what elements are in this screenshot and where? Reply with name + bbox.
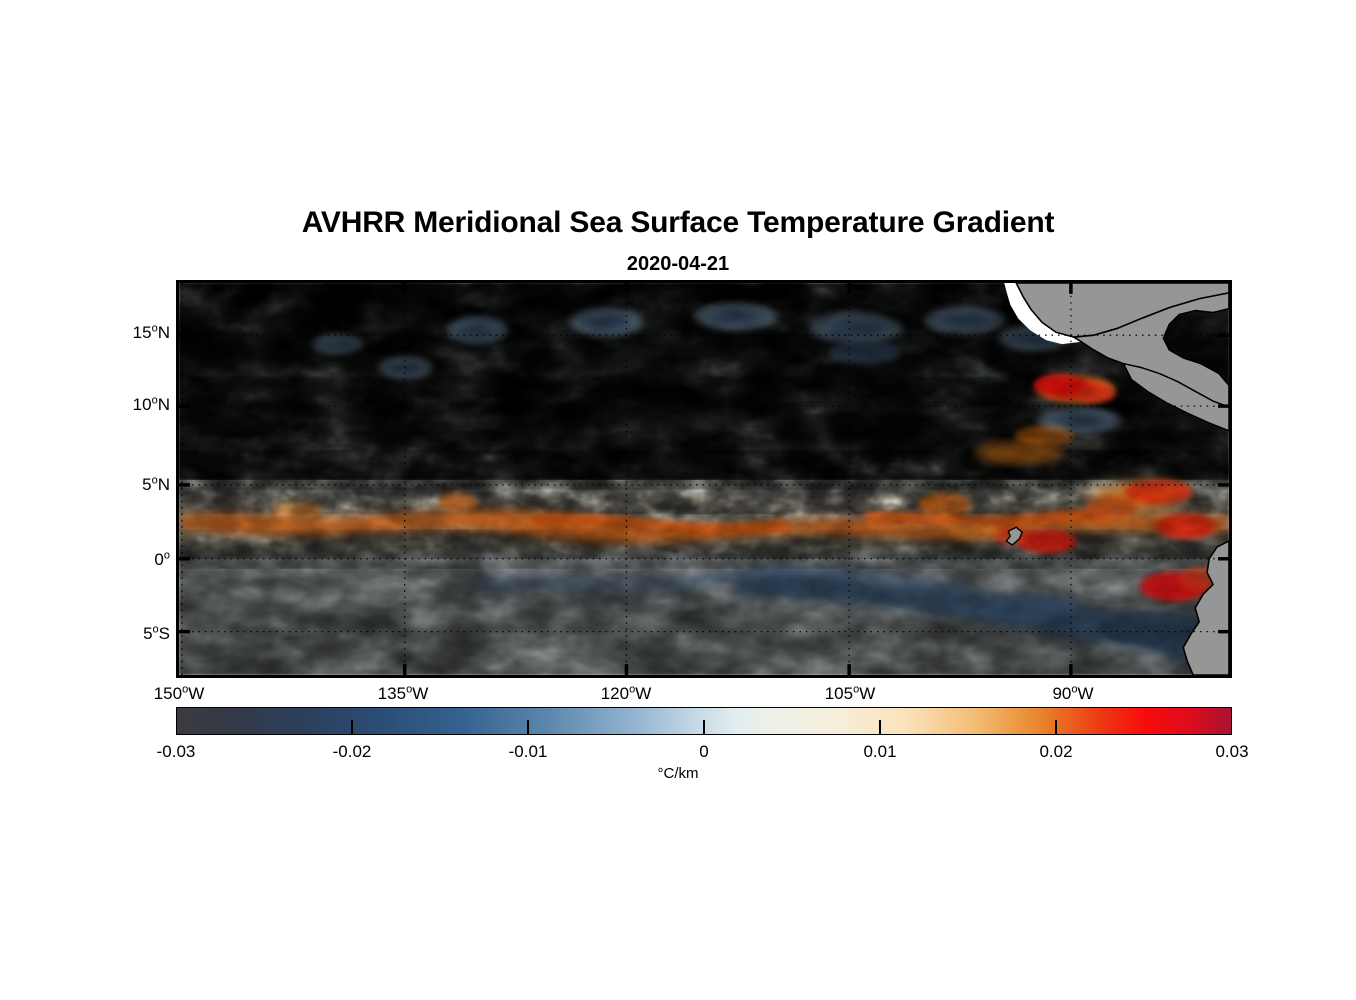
colorbar-tick-neg002 (351, 720, 353, 734)
map-axes[interactable] (176, 280, 1232, 678)
xtick-label-135w: 135oW (378, 684, 429, 704)
colorbar-label-pos003: 0.03 (1215, 742, 1248, 762)
page-title: AVHRR Meridional Sea Surface Temperature… (0, 206, 1356, 240)
xtick-label-90w: 90oW (1052, 684, 1093, 704)
colorbar-label-neg003: -0.03 (157, 742, 196, 762)
sst-gradient-heatmap (179, 283, 1229, 675)
ytick-label-15n: 15oN (133, 323, 170, 343)
ytick-label-5n: 5oN (142, 475, 170, 495)
xtick-label-120w: 120oW (601, 684, 652, 704)
colorbar-label-neg001: -0.01 (509, 742, 548, 762)
colorbar-label-pos001: 0.01 (863, 742, 896, 762)
colorbar-label-zero: 0 (699, 742, 708, 762)
colorbar[interactable] (176, 707, 1232, 735)
colorbar-tick-pos002 (1055, 720, 1057, 734)
xtick-label-150w: 150oW (154, 684, 205, 704)
colorbar-tick-neg001 (527, 720, 529, 734)
colorbar-tick-pos001 (879, 720, 881, 734)
ytick-label-5s: 5oS (143, 624, 170, 644)
ytick-label-10n: 10oN (133, 395, 170, 415)
colorbar-label-neg002: -0.02 (333, 742, 372, 762)
chart-subtitle-date: 2020-04-21 (0, 253, 1356, 276)
colorbar-unit-label: °C/km (0, 765, 1356, 782)
colorbar-tick-zero (703, 720, 705, 734)
colorbar-label-pos002: 0.02 (1039, 742, 1072, 762)
figure-canvas: AVHRR Meridional Sea Surface Temperature… (0, 0, 1356, 1000)
xtick-label-105w: 105oW (825, 684, 876, 704)
ytick-label-0: 0o (154, 550, 170, 570)
